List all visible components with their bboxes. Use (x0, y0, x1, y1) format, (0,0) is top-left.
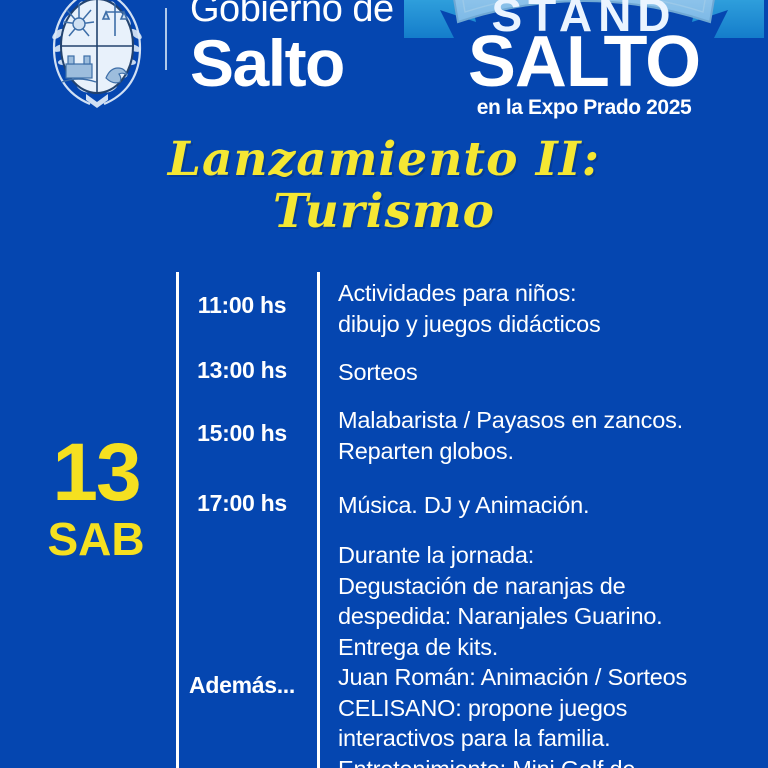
schedule-row-description: Música. DJ y Animación. (338, 490, 758, 521)
schedule-row-description-line: Música. DJ y Animación. (338, 490, 758, 521)
salto-label: Salto (190, 30, 430, 96)
schedule-row-time: 17:00 hs (176, 490, 308, 517)
schedule-row-time: 11:00 hs (176, 292, 308, 319)
schedule-row-description-line: Malabarista / Payasos en zancos. (338, 405, 758, 436)
schedule-row-description-line: Degustación de naranjas de (338, 571, 758, 602)
schedule-row-description-line: Actividades para niños: (338, 278, 758, 309)
gobierno-de-salto-logo: Gobierno de Salto (190, 0, 430, 96)
schedule-row-description-line: Sorteos (338, 357, 758, 388)
schedule-row-description: Sorteos (338, 357, 758, 388)
schedule-row-time: 15:00 hs (176, 420, 308, 447)
schedule-row-description: Malabarista / Payasos en zancos.Reparten… (338, 405, 758, 466)
schedule-row-description-line: Entrega de kits. (338, 632, 758, 663)
header-vertical-divider (165, 8, 167, 70)
schedule-row-description-line: Reparten globos. (338, 436, 758, 467)
schedule-row-description-line: Durante la jornada: (338, 540, 758, 571)
schedule-row-description-line: Entretenimiento: Mini Golf de (338, 754, 758, 768)
schedule-row-description-line: dibujo y juegos didácticos (338, 309, 758, 340)
date-day-of-week: SAB (22, 516, 170, 562)
uruguay-coat-of-arms-icon (38, 0, 156, 112)
schedule-row-description-line: despedida: Naranjales Guarino. (338, 601, 758, 632)
schedule-row-description: Durante la jornada:Degustación de naranj… (338, 540, 758, 768)
badge-subtitle: en la Expo Prado 2025 (400, 96, 768, 120)
page-title: Lanzamiento II: Turismo (0, 136, 768, 236)
schedule-row-description-line: Juan Román: Animación / Sorteos (338, 662, 758, 693)
date-day-number: 13 (22, 432, 170, 514)
event-date-block: 13 SAB (22, 432, 170, 562)
schedule-row-description-line: interactivos para la familia. (338, 723, 758, 754)
stand-salto-badge: STAND SALTO en la Expo Prado 2025 (400, 0, 768, 118)
badge-salto-label: SALTO (400, 26, 768, 98)
title-line-1: Lanzamiento II: (0, 136, 768, 184)
title-line-2: Turismo (0, 188, 768, 236)
schedule-divider-right (317, 272, 320, 768)
schedule-section: 13 SAB 11:00 hsActividades para niños:di… (0, 272, 768, 768)
schedule-row-description: Actividades para niños:dibujo y juegos d… (338, 278, 758, 339)
schedule-row-time: 13:00 hs (176, 357, 308, 384)
gobierno-label: Gobierno de (190, 0, 430, 28)
schedule-row-time: Además... (176, 672, 308, 699)
schedule-row-description-line: CELISANO: propone juegos (338, 693, 758, 724)
event-poster: Gobierno de Salto (0, 0, 768, 768)
poster-header: Gobierno de Salto (0, 0, 768, 120)
